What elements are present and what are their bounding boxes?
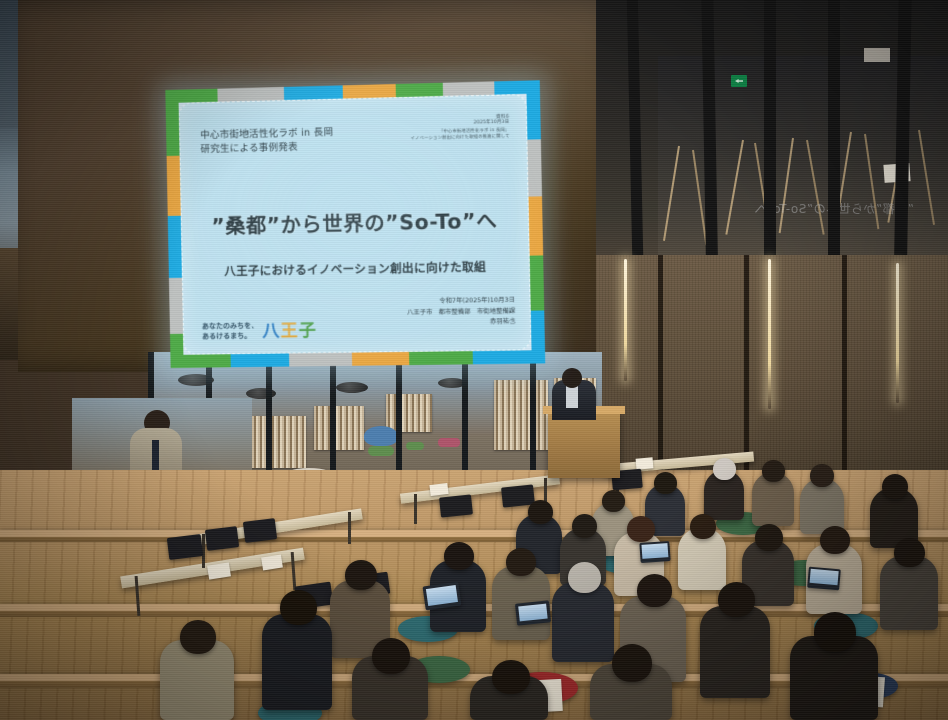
slide-band-green bbox=[530, 255, 545, 310]
audience-head bbox=[506, 548, 536, 576]
slide-band-blue bbox=[531, 310, 546, 363]
handout-paper bbox=[636, 457, 654, 469]
audience-head bbox=[627, 516, 655, 542]
logo-tagline: あなたのみちを、 あるけるまち。 bbox=[202, 320, 259, 341]
slide-header-left: 中心市街地活性化ラボ in 長岡 研究生による事例発表 bbox=[200, 126, 334, 157]
staff-necktie bbox=[152, 440, 159, 474]
wall-led-strip bbox=[896, 263, 899, 403]
table-leg bbox=[414, 494, 417, 524]
audience-head bbox=[810, 464, 834, 487]
slide-band-gray bbox=[289, 353, 352, 367]
slide-header-right: 資料6 2025年10月3日 「中心市街地活性化ラボ in 長岡」 イノベーショ… bbox=[410, 114, 510, 142]
folding-chair bbox=[243, 518, 277, 543]
audience-head bbox=[280, 590, 317, 625]
audience-head bbox=[690, 514, 716, 539]
projection-screen: 中心市街地活性化ラボ in 長岡 研究生による事例発表 資料6 2025年10月… bbox=[165, 80, 545, 368]
slide-title: ”桑都”から世界の”So-To”へ bbox=[182, 204, 529, 240]
slide-header-line2: イノベーション創出に向けた取組の推進に関して bbox=[411, 133, 510, 142]
exit-sign-icon bbox=[731, 75, 747, 87]
presenter-head bbox=[562, 368, 582, 388]
wall-notice bbox=[864, 48, 890, 62]
blue-furniture bbox=[364, 426, 398, 446]
table-leg bbox=[348, 512, 351, 544]
bookshelf bbox=[494, 380, 548, 450]
laptop[interactable] bbox=[515, 600, 551, 625]
slide-band-orange bbox=[343, 84, 396, 99]
folding-chair bbox=[167, 534, 203, 560]
audience-head bbox=[894, 538, 925, 567]
slide-band-orange bbox=[529, 196, 544, 255]
bookshelf bbox=[386, 394, 432, 432]
audience-head bbox=[713, 458, 736, 480]
audience-head bbox=[492, 660, 530, 694]
slide-band-orange bbox=[352, 352, 409, 366]
audience-member bbox=[552, 582, 614, 662]
slide-band-blue bbox=[168, 216, 182, 278]
laptop-screen bbox=[518, 604, 547, 622]
audience-head bbox=[372, 638, 410, 674]
slide-band-gray bbox=[527, 139, 542, 196]
slide-band-orange bbox=[167, 156, 181, 216]
audience-head bbox=[568, 562, 601, 593]
audience-member bbox=[262, 614, 332, 710]
slide-reflection-text: ”桑都”から世界の”So-To”へ bbox=[714, 200, 914, 222]
audience-member bbox=[880, 556, 938, 630]
logo-char-3: 子 bbox=[299, 323, 317, 340]
audience-head bbox=[755, 524, 783, 551]
slide-band-green bbox=[409, 351, 473, 365]
pink-furniture bbox=[438, 438, 460, 447]
audience-head bbox=[882, 474, 908, 499]
slide-band-green bbox=[165, 90, 179, 156]
bookshelf bbox=[246, 416, 306, 468]
slide-content: 中心市街地活性化ラボ in 長岡 研究生による事例発表 資料6 2025年10月… bbox=[179, 94, 532, 355]
slide-subtitle: 八王子におけるイノベーション創出に向けた取組 bbox=[183, 258, 529, 280]
pendant-lamp bbox=[336, 382, 368, 393]
folding-chair bbox=[205, 526, 239, 551]
laptop[interactable] bbox=[807, 567, 841, 591]
laptop-screen bbox=[810, 569, 839, 585]
logo-mark: 八 王 子 bbox=[262, 323, 316, 341]
audience-head bbox=[345, 560, 377, 590]
audience-head bbox=[637, 574, 672, 607]
city-logo: あなたのみちを、 あるけるまち。 八 王 子 bbox=[202, 320, 316, 342]
slide-band-green bbox=[396, 83, 443, 97]
audience-head bbox=[718, 582, 755, 617]
wall-led-strip bbox=[768, 259, 771, 409]
audience-head bbox=[444, 542, 474, 570]
green-furniture bbox=[406, 442, 424, 450]
laptop[interactable] bbox=[423, 582, 462, 611]
audience-head bbox=[180, 620, 216, 654]
audience-head bbox=[820, 526, 850, 554]
logo-char-2: 王 bbox=[280, 323, 298, 340]
slide-band-blue bbox=[231, 353, 290, 367]
green-furniture bbox=[368, 446, 394, 456]
laptop-screen bbox=[641, 543, 668, 559]
slide-band-gray bbox=[443, 81, 495, 96]
audience-head bbox=[572, 514, 597, 538]
laptop-screen bbox=[426, 585, 458, 606]
slide-frame: 中心市街地活性化ラボ in 長岡 研究生による事例発表 資料6 2025年10月… bbox=[165, 80, 545, 368]
slide-credit: 令和7年(2025年)10月3日 八王子市 都市整備部 市街地整備課 赤羽祐也 bbox=[407, 296, 516, 329]
slide-band-blue bbox=[526, 80, 541, 139]
audience-head bbox=[814, 612, 856, 652]
bookshelf bbox=[314, 406, 364, 450]
slide-band-green bbox=[170, 334, 184, 368]
audience-head bbox=[612, 644, 652, 682]
podium bbox=[548, 412, 620, 478]
presenter-shirt bbox=[566, 386, 578, 408]
handout-paper bbox=[429, 483, 448, 496]
wall-led-strip bbox=[624, 259, 627, 381]
audience-head bbox=[654, 472, 677, 494]
photo-scene: ”桑都”から世界の”So-To”へ bbox=[0, 0, 948, 720]
laptop[interactable] bbox=[639, 541, 670, 563]
slide-band-gray bbox=[169, 278, 183, 334]
logo-char-1: 八 bbox=[262, 323, 279, 340]
audience-head bbox=[528, 500, 553, 524]
audience-head bbox=[762, 460, 785, 482]
audience-member bbox=[700, 606, 770, 698]
audience-head bbox=[602, 490, 625, 512]
folding-chair bbox=[439, 494, 473, 517]
